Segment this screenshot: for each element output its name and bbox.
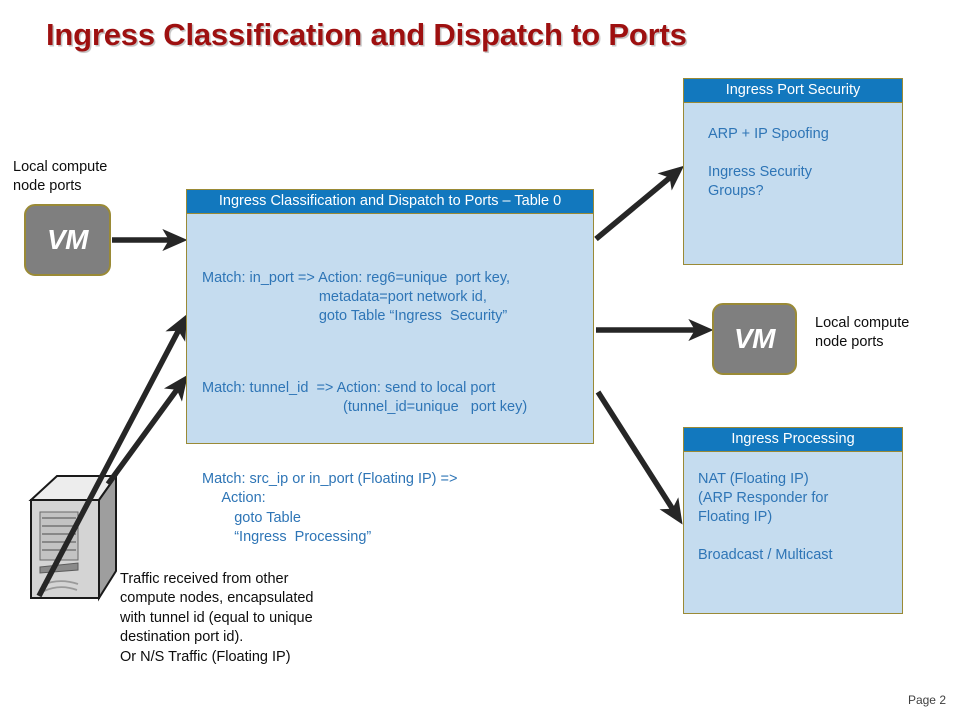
list-item: NAT (Floating IP) (ARP Responder for Flo… bbox=[698, 470, 892, 527]
match-rule-in-port: Match: in_port => Action: reg6=unique po… bbox=[202, 269, 585, 327]
list-item: ARP + IP Spoofing bbox=[708, 125, 892, 144]
list-item: Ingress Security Groups? bbox=[708, 163, 892, 201]
ingress-port-security-body: ARP + IP Spoofing Ingress Security Group… bbox=[684, 103, 902, 211]
ingress-processing-header: Ingress Processing bbox=[684, 428, 902, 452]
ingress-processing-body: NAT (Floating IP) (ARP Responder for Flo… bbox=[684, 452, 902, 576]
vm-left[interactable]: VM bbox=[24, 204, 111, 276]
page-number: Page 2 bbox=[908, 693, 946, 707]
main-table-header: Ingress Classification and Dispatch to P… bbox=[187, 190, 593, 214]
list-item: Broadcast / Multicast bbox=[698, 546, 892, 565]
ingress-processing-box[interactable]: Ingress Processing NAT (Floating IP) (AR… bbox=[683, 427, 903, 614]
label-traffic-note: Traffic received from other compute node… bbox=[120, 570, 370, 667]
vm-right[interactable]: VM bbox=[712, 303, 797, 375]
ingress-port-security-box[interactable]: Ingress Port Security ARP + IP Spoofing … bbox=[683, 78, 903, 265]
ingress-port-security-header: Ingress Port Security bbox=[684, 79, 902, 103]
label-local-compute-node-ports-right: Local compute node ports bbox=[815, 314, 955, 353]
match-rule-tunnel-id: Match: tunnel_id => Action: send to loca… bbox=[202, 379, 585, 418]
label-local-compute-node-ports-left: Local compute node ports bbox=[13, 158, 163, 197]
main-table-body: Match: in_port => Action: reg6=unique po… bbox=[187, 214, 593, 608]
main-table-box[interactable]: Ingress Classification and Dispatch to P… bbox=[186, 189, 594, 444]
slide-canvas: Ingress Classification and Dispatch to P… bbox=[0, 0, 960, 720]
match-rule-floating-ip: Match: src_ip or in_port (Floating IP) =… bbox=[202, 470, 585, 547]
